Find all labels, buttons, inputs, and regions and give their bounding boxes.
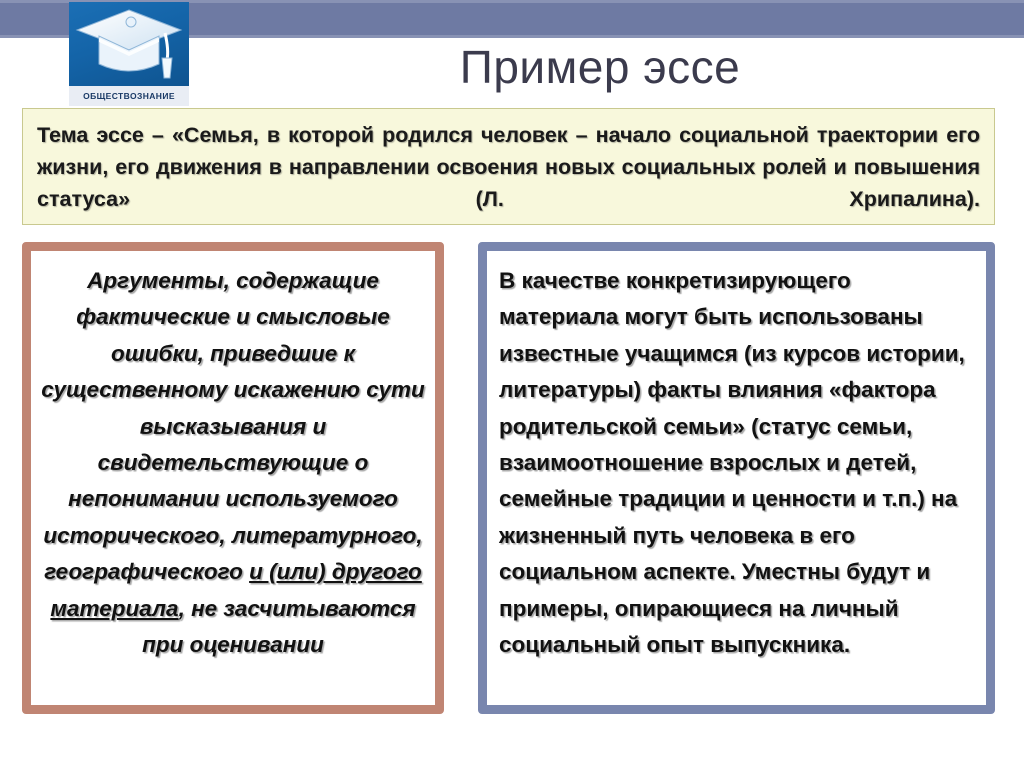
panel-argument-errors-body: Аргументы, содержащие фактические и смыс… xyxy=(31,251,435,705)
subject-logo: ОБЩЕСТВОЗНАНИЕ xyxy=(69,2,189,106)
panel-supporting-material: В качестве конкретизирующего материала м… xyxy=(478,242,995,714)
graduation-cap-icon xyxy=(69,2,189,86)
errors-text-before: Аргументы, содержащие фактические и смыс… xyxy=(41,268,424,584)
subject-logo-caption: ОБЩЕСТВОЗНАНИЕ xyxy=(69,86,189,106)
essay-topic-banner: Тема эссе – «Семья, в которой родился че… xyxy=(22,108,995,225)
essay-topic-text: Тема эссе – «Семья, в которой родился че… xyxy=(37,119,980,247)
page-title: Пример эссе xyxy=(200,38,1000,96)
panel-supporting-material-text: В качестве конкретизирующего материала м… xyxy=(499,263,976,663)
panel-argument-errors-text: Аргументы, содержащие фактические и смыс… xyxy=(41,263,425,663)
panel-argument-errors: Аргументы, содержащие фактические и смыс… xyxy=(22,242,444,714)
panel-supporting-material-body: В качестве конкретизирующего материала м… xyxy=(487,251,986,705)
errors-text-after: , не засчитываются при оценивании xyxy=(142,596,415,657)
